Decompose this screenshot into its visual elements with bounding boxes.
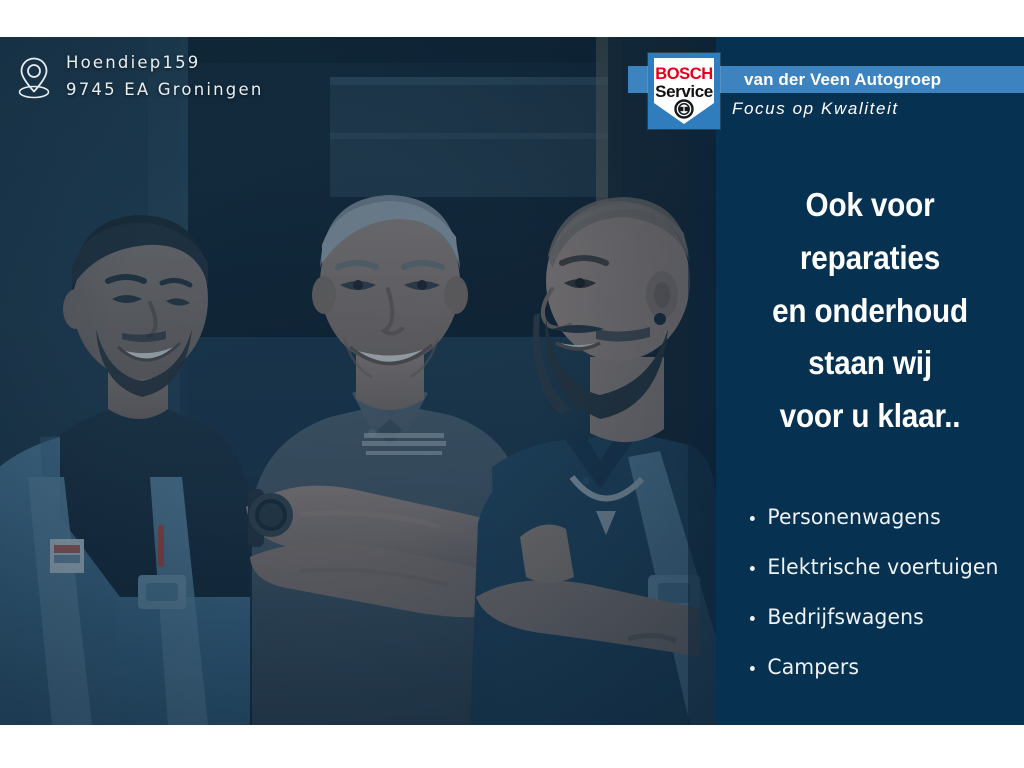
svg-text:Service: Service	[655, 82, 713, 101]
address-text: Hoendiep159 9745 EA Groningen	[66, 50, 263, 103]
services-list: Personenwagens Elektrische voertuigen Be…	[748, 507, 1024, 707]
bosch-service-logo: BOSCH Service	[648, 53, 720, 129]
address-block: Hoendiep159 9745 EA Groningen	[16, 50, 263, 103]
headline-line-5: voor u klaar..	[731, 390, 1008, 443]
list-item: Campers	[748, 657, 1016, 678]
team-photo-illustration	[0, 37, 716, 725]
headline-line-2: reparaties	[731, 232, 1008, 285]
list-item: Personenwagens	[748, 507, 1016, 528]
list-item: Bedrijfswagens	[748, 607, 1016, 628]
location-pin-icon	[16, 55, 52, 99]
advertisement-banner: Hoendiep159 9745 EA Groningen van der Ve…	[0, 0, 1024, 768]
panel-headline: Ook voor reparaties en onderhoud staan w…	[731, 179, 1008, 443]
headline-line-4: staan wij	[731, 337, 1008, 390]
company-tagline: Focus op Kwaliteit	[732, 99, 899, 119]
headline-line-1: Ook voor	[731, 179, 1008, 232]
ad-canvas: Hoendiep159 9745 EA Groningen van der Ve…	[0, 37, 1024, 725]
info-panel: Ook voor reparaties en onderhoud staan w…	[716, 37, 1024, 725]
svg-text:BOSCH: BOSCH	[655, 65, 713, 83]
company-name: van der Veen Autogroep	[744, 66, 941, 93]
address-street: Hoendiep159	[66, 50, 263, 77]
bosch-service-logo-icon: BOSCH Service	[648, 53, 720, 129]
headline-line-3: en onderhoud	[731, 285, 1008, 338]
workshop-team-photo	[0, 37, 716, 725]
list-item: Elektrische voertuigen	[748, 557, 1016, 578]
address-city: 9745 EA Groningen	[66, 77, 263, 104]
